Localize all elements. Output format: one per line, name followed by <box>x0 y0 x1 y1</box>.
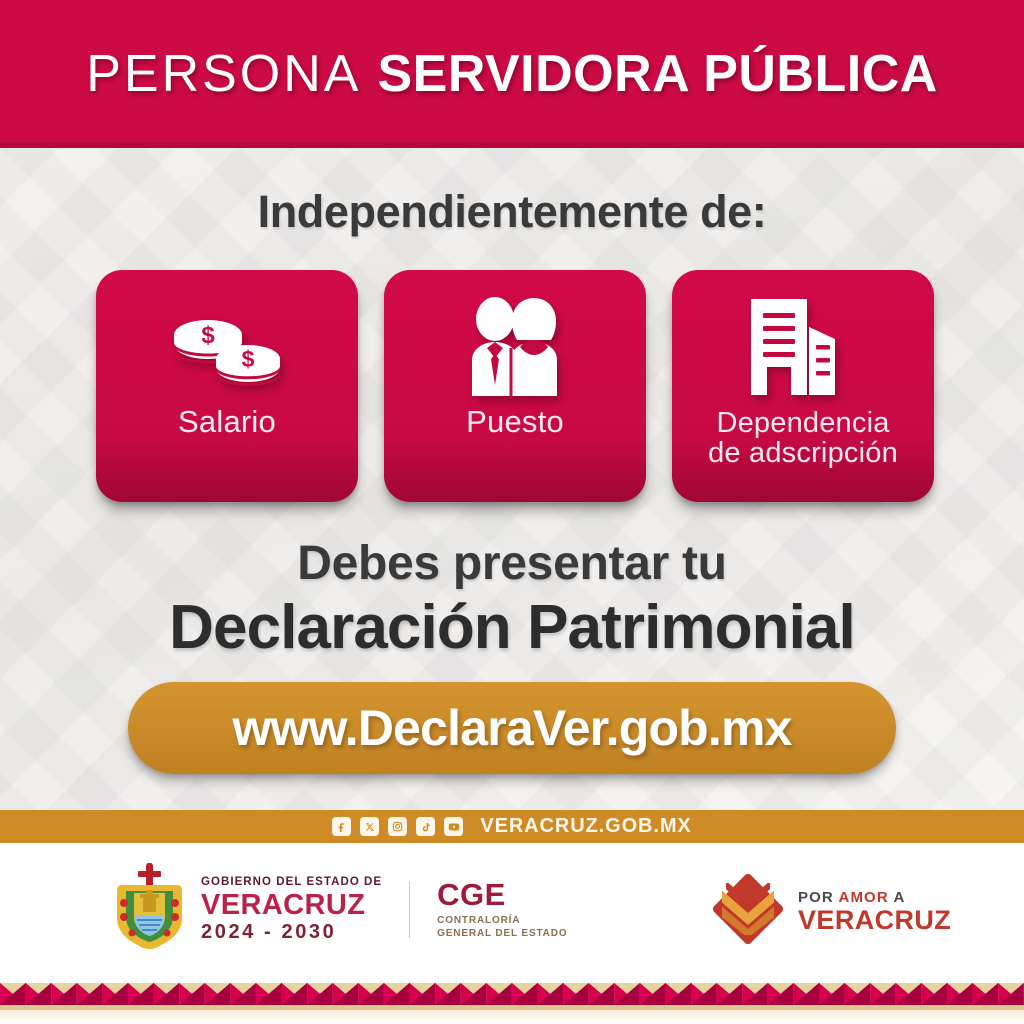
poster-canvas: PERSONA SERVIDORA PÚBLICA Independientem… <box>0 0 1024 1024</box>
page-title-bold: SERVIDORA PÚBLICA <box>377 45 937 103</box>
svg-text:$: $ <box>242 346 255 372</box>
card-label-puesto: Puesto <box>384 406 646 502</box>
card-puesto[interactable]: Puesto <box>384 270 646 502</box>
cards-row: $ $ Salario <box>96 270 934 502</box>
card-label-dependencia-line2: de adscripción <box>708 437 898 469</box>
declaraver-url-label: www.DeclaraVer.gob.mx <box>232 699 791 757</box>
government-wordmark: GOBIERNO DEL ESTADO DE VERACRUZ 2024 - 2… <box>201 877 382 943</box>
por-amor-line-2: VERACRUZ <box>798 907 951 934</box>
people-icon <box>462 270 568 406</box>
government-line-3: 2024 - 2030 <box>201 922 382 942</box>
cta-line-1: Debes presentar tu <box>0 536 1024 591</box>
veracruz-coat-of-arms-icon <box>112 863 188 956</box>
por-amor-line-1: POR AMOR A <box>798 890 951 905</box>
coins-icon: $ $ <box>168 270 286 406</box>
por-amor-a-veracruz-logo-group: POR AMOR A VERACRUZ <box>712 873 951 950</box>
government-line-2: VERACRUZ <box>201 891 382 920</box>
header-banner: PERSONA SERVIDORA PÚBLICA <box>0 0 1024 148</box>
main-content: Independientemente de: <box>0 148 1024 810</box>
card-label-salario: Salario <box>96 406 358 502</box>
cge-subtitle-line1: CONTRALORÍA <box>437 915 520 926</box>
cge-subtitle: CONTRALORÍA GENERAL DEL ESTADO <box>437 914 567 941</box>
social-site-label: VERACRUZ.GOB.MX <box>480 815 691 838</box>
instagram-icon[interactable] <box>388 817 407 836</box>
chevron-diamond-icon <box>712 873 784 950</box>
social-bar: VERACRUZ.GOB.MX <box>0 810 1024 843</box>
triangle-pattern <box>0 983 1024 1010</box>
tiktok-icon[interactable] <box>416 817 435 836</box>
por-amor-pre: POR <box>798 889 839 906</box>
bottom-cream-strip <box>0 1010 1024 1024</box>
por-amor-accent: AMOR <box>839 889 889 906</box>
facebook-icon[interactable] <box>332 817 351 836</box>
youtube-icon[interactable] <box>444 817 463 836</box>
logo-divider <box>409 882 410 938</box>
por-amor-post: A <box>889 889 906 906</box>
por-amor-wordmark: POR AMOR A VERACRUZ <box>798 890 951 934</box>
card-label-dependencia: Dependencia de adscripción <box>672 406 934 502</box>
cta-line-2: Declaración Patrimonial <box>0 592 1024 663</box>
building-icon <box>747 270 859 406</box>
card-label-dependencia-line1: Dependencia <box>716 407 889 439</box>
cge-logo: CGE CONTRALORÍA GENERAL DEL ESTADO <box>437 879 567 941</box>
decorative-triangle-band <box>0 983 1024 1010</box>
cge-acronym: CGE <box>437 879 567 910</box>
card-salario[interactable]: $ $ Salario <box>96 270 358 502</box>
cge-subtitle-line2: GENERAL DEL ESTADO <box>437 928 567 939</box>
x-twitter-icon[interactable] <box>360 817 379 836</box>
card-dependencia[interactable]: Dependencia de adscripción <box>672 270 934 502</box>
government-logo-group: GOBIERNO DEL ESTADO DE VERACRUZ 2024 - 2… <box>112 863 567 956</box>
government-line-1: GOBIERNO DEL ESTADO DE <box>201 877 382 889</box>
svg-text:$: $ <box>201 322 215 349</box>
subheading: Independientemente de: <box>0 186 1024 238</box>
page-title-light: PERSONA <box>86 45 361 103</box>
declaraver-url-button[interactable]: www.DeclaraVer.gob.mx <box>128 682 896 774</box>
footer-area: GOBIERNO DEL ESTADO DE VERACRUZ 2024 - 2… <box>0 843 1024 983</box>
page-title: PERSONA SERVIDORA PÚBLICA <box>86 48 938 100</box>
